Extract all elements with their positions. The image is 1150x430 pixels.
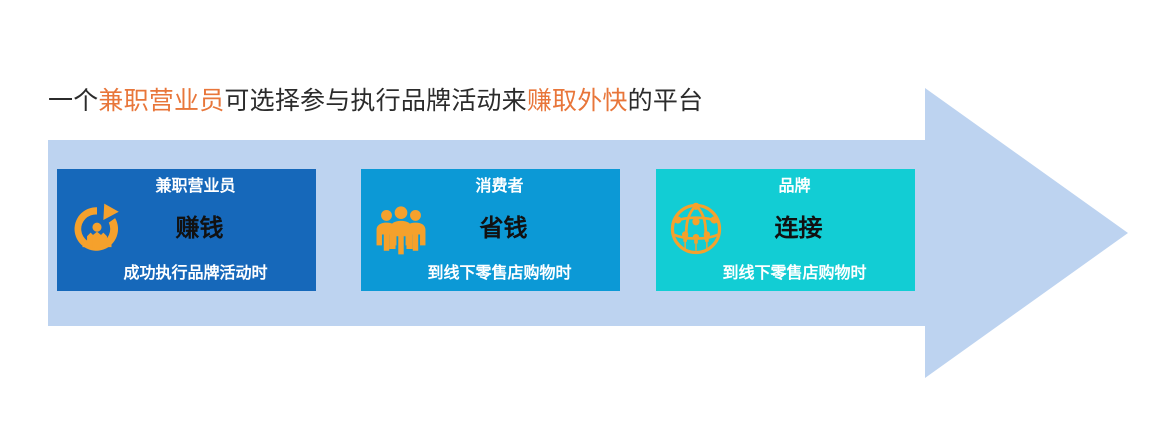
title-segment-accent-2: 赚取外快 [527, 88, 628, 115]
title-segment-accent-1: 兼职营业员 [98, 88, 224, 115]
title-segment-1: 一个 [48, 88, 98, 115]
card-consumer-header: 消费者 [361, 176, 620, 198]
card-worker[interactable]: 兼职营业员 赚钱 成功执行品牌活动时 [57, 169, 316, 291]
card-brand-header: 品牌 [656, 176, 915, 198]
card-worker-header: 兼职营业员 [57, 176, 316, 198]
slide-canvas: 一个兼职营业员可选择参与执行品牌活动来赚取外快的平台 兼职营业员 赚钱 成功执行… [0, 0, 1150, 430]
title-segment-2: 可选择参与执行品牌活动来 [224, 88, 526, 115]
card-worker-footer: 成功执行品牌活动时 [57, 263, 316, 285]
card-brand-main: 连接 [656, 213, 915, 245]
card-brand[interactable]: 品牌 连接 到线下零售店购物时 [656, 169, 915, 291]
card-consumer-footer: 到线下零售店购物时 [361, 263, 620, 285]
page-title: 一个兼职营业员可选择参与执行品牌活动来赚取外快的平台 [48, 85, 703, 119]
card-brand-footer: 到线下零售店购物时 [656, 263, 915, 285]
card-worker-main: 赚钱 [57, 213, 316, 245]
title-segment-3: 的平台 [628, 88, 704, 115]
card-consumer-main: 省钱 [361, 213, 620, 245]
card-consumer[interactable]: 消费者 省钱 到线下零售店购物时 [361, 169, 620, 291]
